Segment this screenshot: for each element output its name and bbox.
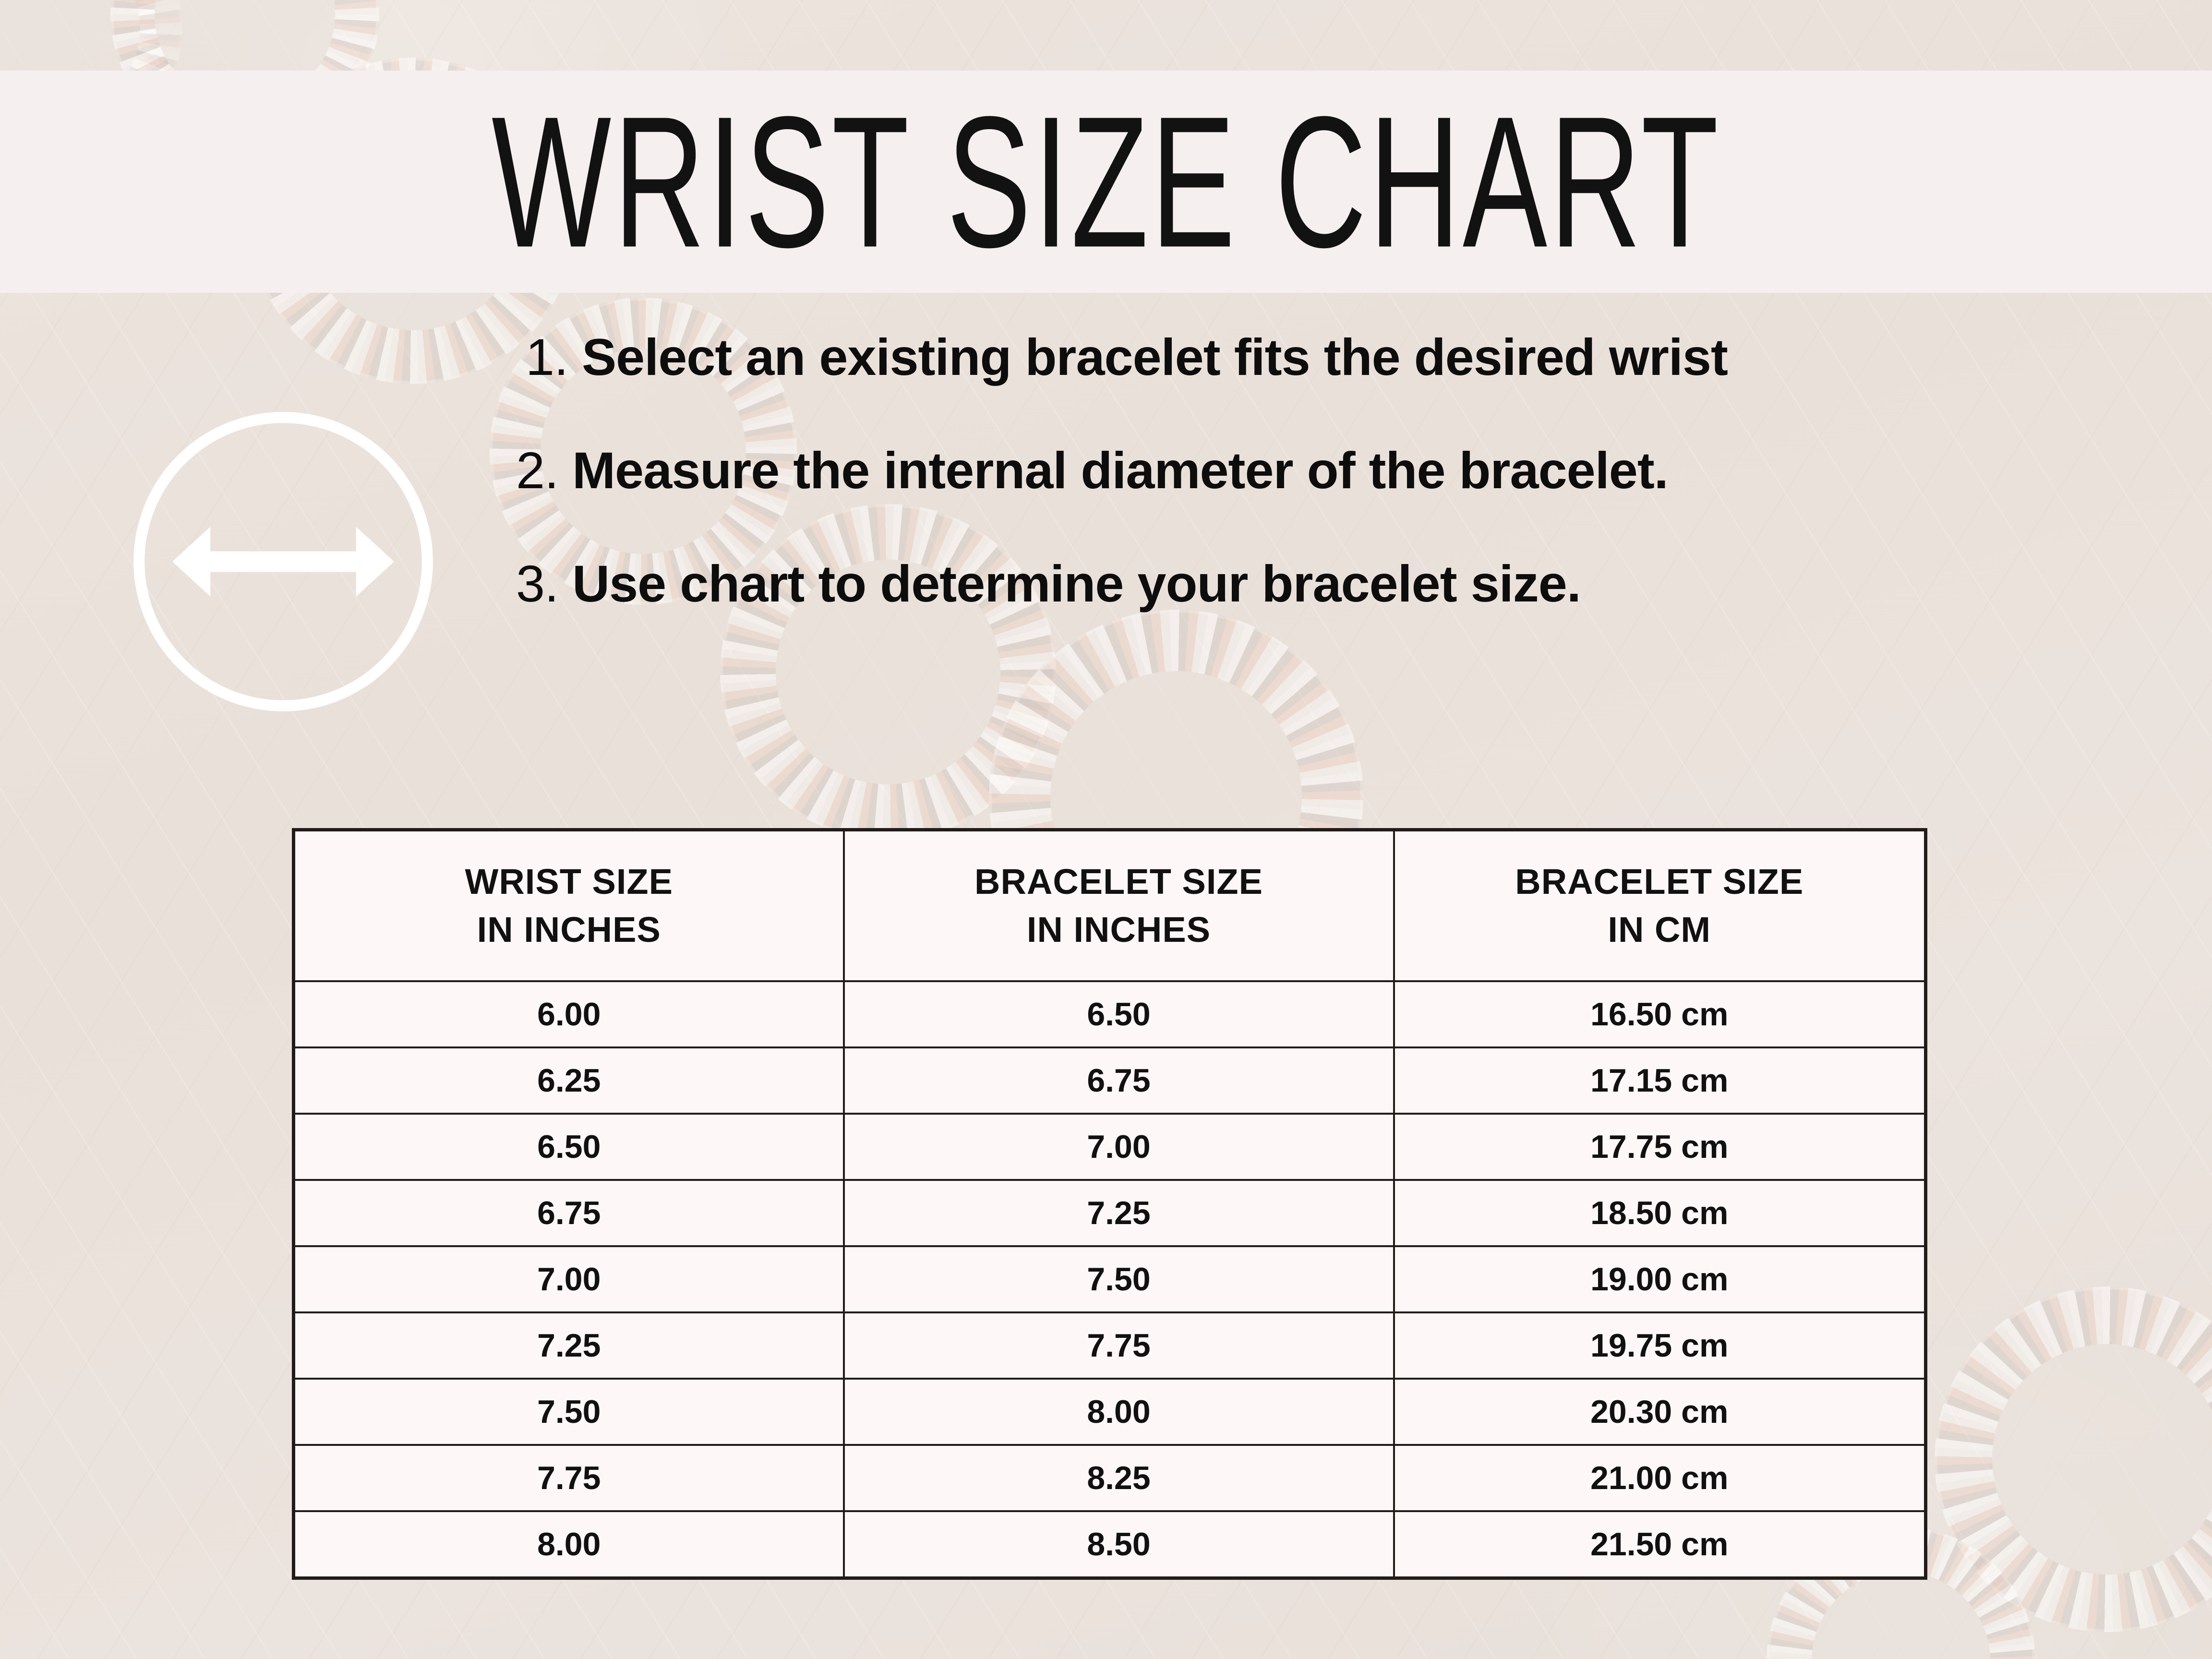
header-line-2: IN INCHES	[845, 906, 1393, 954]
cell-bracelet-inches: 6.50	[844, 981, 1394, 1047]
cell-bracelet-cm: 17.15 cm	[1394, 1047, 1926, 1114]
table-body: 6.00 6.50 16.50 cm 6.25 6.75 17.15 cm 6.…	[294, 981, 1926, 1578]
table-row: 6.25 6.75 17.15 cm	[294, 1047, 1926, 1114]
column-header-bracelet-size-cm: BRACELET SIZE IN CM	[1394, 830, 1926, 982]
table-row: 6.00 6.50 16.50 cm	[294, 981, 1926, 1047]
step-number: 2.	[516, 441, 558, 499]
cell-bracelet-inches: 8.00	[844, 1379, 1394, 1445]
cell-bracelet-inches: 8.50	[844, 1511, 1394, 1578]
table-row: 6.75 7.25 18.50 cm	[294, 1180, 1926, 1246]
cell-bracelet-inches: 7.75	[844, 1312, 1394, 1379]
table-row: 8.00 8.50 21.50 cm	[294, 1511, 1926, 1578]
page-title: WRIST SIZE CHART	[492, 88, 1721, 275]
step-number: 1.	[526, 328, 568, 386]
cell-bracelet-cm: 19.00 cm	[1394, 1246, 1926, 1312]
column-header-wrist-size-inches: WRIST SIZE IN INCHES	[294, 830, 844, 982]
header-line-2: IN CM	[1395, 906, 1924, 954]
cell-bracelet-inches: 7.25	[844, 1180, 1394, 1246]
poster-canvas: WRIST SIZE CHART 1. Select an existing b…	[0, 0, 2212, 1659]
title-banner: WRIST SIZE CHART	[0, 71, 2212, 293]
cell-bracelet-cm: 16.50 cm	[1394, 981, 1926, 1047]
cell-bracelet-cm: 19.75 cm	[1394, 1312, 1926, 1379]
header-line-1: WRIST SIZE	[295, 858, 843, 906]
instruction-step-2: 2. Measure the internal diameter of the …	[516, 445, 2148, 496]
table-row: 7.50 8.00 20.30 cm	[294, 1379, 1926, 1445]
cell-wrist-inches: 7.25	[294, 1312, 844, 1379]
instruction-step-1: 1. Select an existing bracelet fits the …	[526, 331, 2148, 383]
cell-bracelet-cm: 21.00 cm	[1394, 1445, 1926, 1511]
step-text: Use chart to determine your bracelet siz…	[572, 554, 1581, 613]
instruction-step-3: 3. Use chart to determine your bracelet …	[516, 558, 2148, 610]
table-row: 7.75 8.25 21.00 cm	[294, 1445, 1926, 1511]
decor-chain-ring	[1907, 1259, 2212, 1659]
cell-wrist-inches: 6.50	[294, 1114, 844, 1180]
header-line-1: BRACELET SIZE	[845, 858, 1393, 906]
cell-wrist-inches: 8.00	[294, 1511, 844, 1578]
header-line-1: BRACELET SIZE	[1395, 858, 1924, 906]
wrist-size-table: WRIST SIZE IN INCHES BRACELET SIZE IN IN…	[292, 828, 1927, 1580]
cell-wrist-inches: 7.75	[294, 1445, 844, 1511]
table-row: 7.25 7.75 19.75 cm	[294, 1312, 1926, 1379]
cell-bracelet-inches: 6.75	[844, 1047, 1394, 1114]
table-row: 7.00 7.50 19.00 cm	[294, 1246, 1926, 1312]
column-header-bracelet-size-inches: BRACELET SIZE IN INCHES	[844, 830, 1394, 982]
cell-bracelet-inches: 8.25	[844, 1445, 1394, 1511]
cell-wrist-inches: 6.75	[294, 1180, 844, 1246]
diameter-arrow-icon	[125, 403, 442, 720]
step-text: Measure the internal diameter of the bra…	[572, 441, 1668, 499]
cell-bracelet-cm: 17.75 cm	[1394, 1114, 1926, 1180]
instructions-list: 1. Select an existing bracelet fits the …	[516, 331, 2148, 671]
cell-wrist-inches: 7.50	[294, 1379, 844, 1445]
cell-wrist-inches: 6.25	[294, 1047, 844, 1114]
cell-bracelet-inches: 7.00	[844, 1114, 1394, 1180]
cell-bracelet-cm: 21.50 cm	[1394, 1511, 1926, 1578]
table-header-row: WRIST SIZE IN INCHES BRACELET SIZE IN IN…	[294, 830, 1926, 982]
cell-bracelet-cm: 18.50 cm	[1394, 1180, 1926, 1246]
step-number: 3.	[516, 554, 558, 613]
cell-wrist-inches: 6.00	[294, 981, 844, 1047]
cell-wrist-inches: 7.00	[294, 1246, 844, 1312]
cell-bracelet-cm: 20.30 cm	[1394, 1379, 1926, 1445]
table-row: 6.50 7.00 17.75 cm	[294, 1114, 1926, 1180]
step-text: Select an existing bracelet fits the des…	[582, 328, 1728, 386]
header-line-2: IN INCHES	[295, 906, 843, 954]
cell-bracelet-inches: 7.50	[844, 1246, 1394, 1312]
